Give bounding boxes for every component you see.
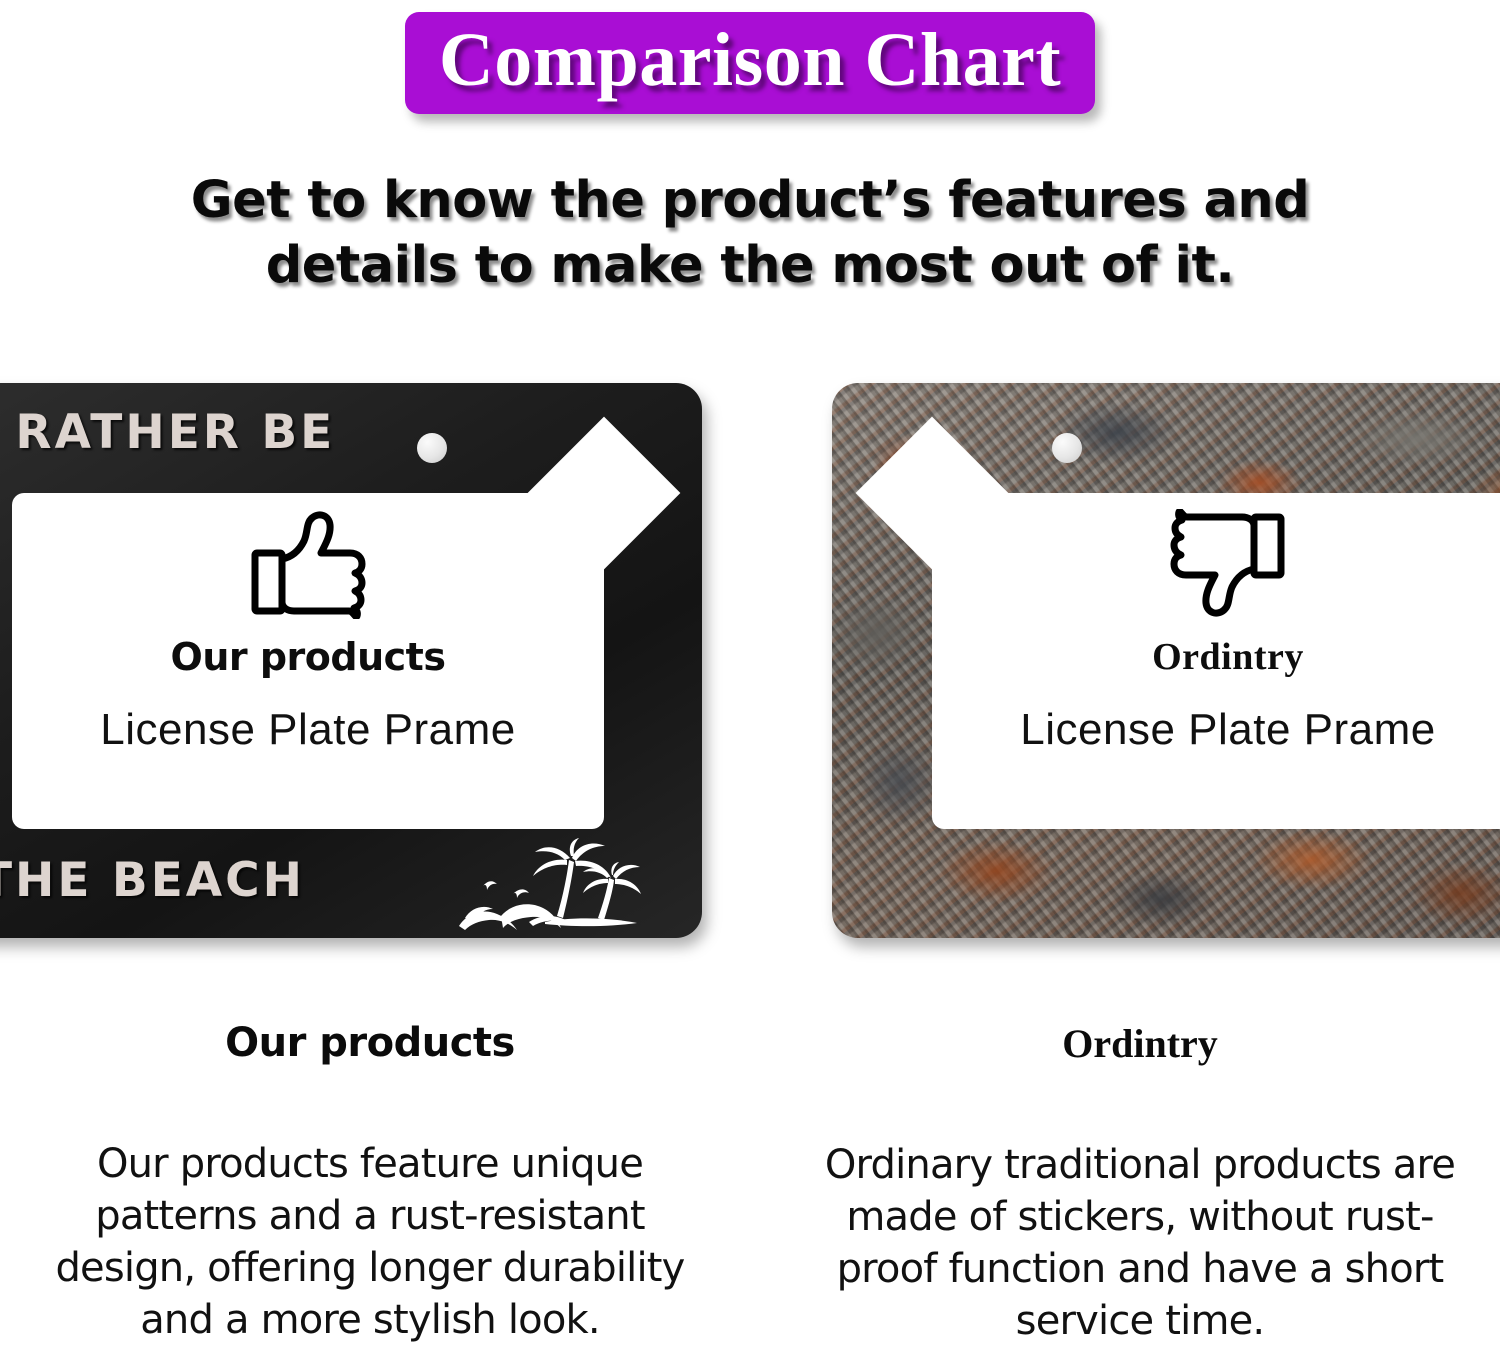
frame-text-top: D RATHER BE (0, 405, 335, 460)
ordinary-product-frame: Ordintry License Plate Prame (832, 383, 1500, 938)
our-product-plate-content: Our products License Plate Prame (12, 493, 604, 829)
ordinary-product-description-column: Ordintry Ordinary traditional products a… (790, 1020, 1490, 1347)
ordinary-product-plate-heading: Ordintry (1152, 635, 1304, 679)
our-product-description-column: Our products Our products feature unique… (20, 1020, 720, 1346)
thumbs-down-icon (1170, 509, 1286, 619)
ordinary-product-plate-content: Ordintry License Plate Prame (932, 493, 1500, 829)
frame-text-bottom: THE BEACH (0, 853, 305, 908)
our-product-frame: D RATHER BE THE BEACH (0, 383, 702, 938)
mounting-hole (1052, 433, 1082, 463)
palm-tree-waves-decal (457, 838, 667, 933)
thumbs-up-icon (250, 509, 366, 619)
ordinary-product-plate-subheading: License Plate Prame (1020, 705, 1436, 755)
our-product-plate-subheading: License Plate Prame (100, 705, 516, 755)
ordinary-product-plate: Ordintry License Plate Prame (932, 493, 1500, 829)
ordinary-product-column-title: Ordintry (790, 1020, 1490, 1067)
ordinary-product-column-body: Ordinary traditional products are made o… (790, 1139, 1490, 1347)
our-product-column-title: Our products (20, 1020, 720, 1066)
our-product-plate-heading: Our products (171, 635, 446, 679)
our-product-column-body: Our products feature unique patterns and… (20, 1138, 720, 1346)
comparison-chart-page: Comparison Chart Get to know the product… (0, 0, 1500, 1364)
mounting-hole (417, 433, 447, 463)
our-product-plate: Our products License Plate Prame (12, 493, 604, 829)
